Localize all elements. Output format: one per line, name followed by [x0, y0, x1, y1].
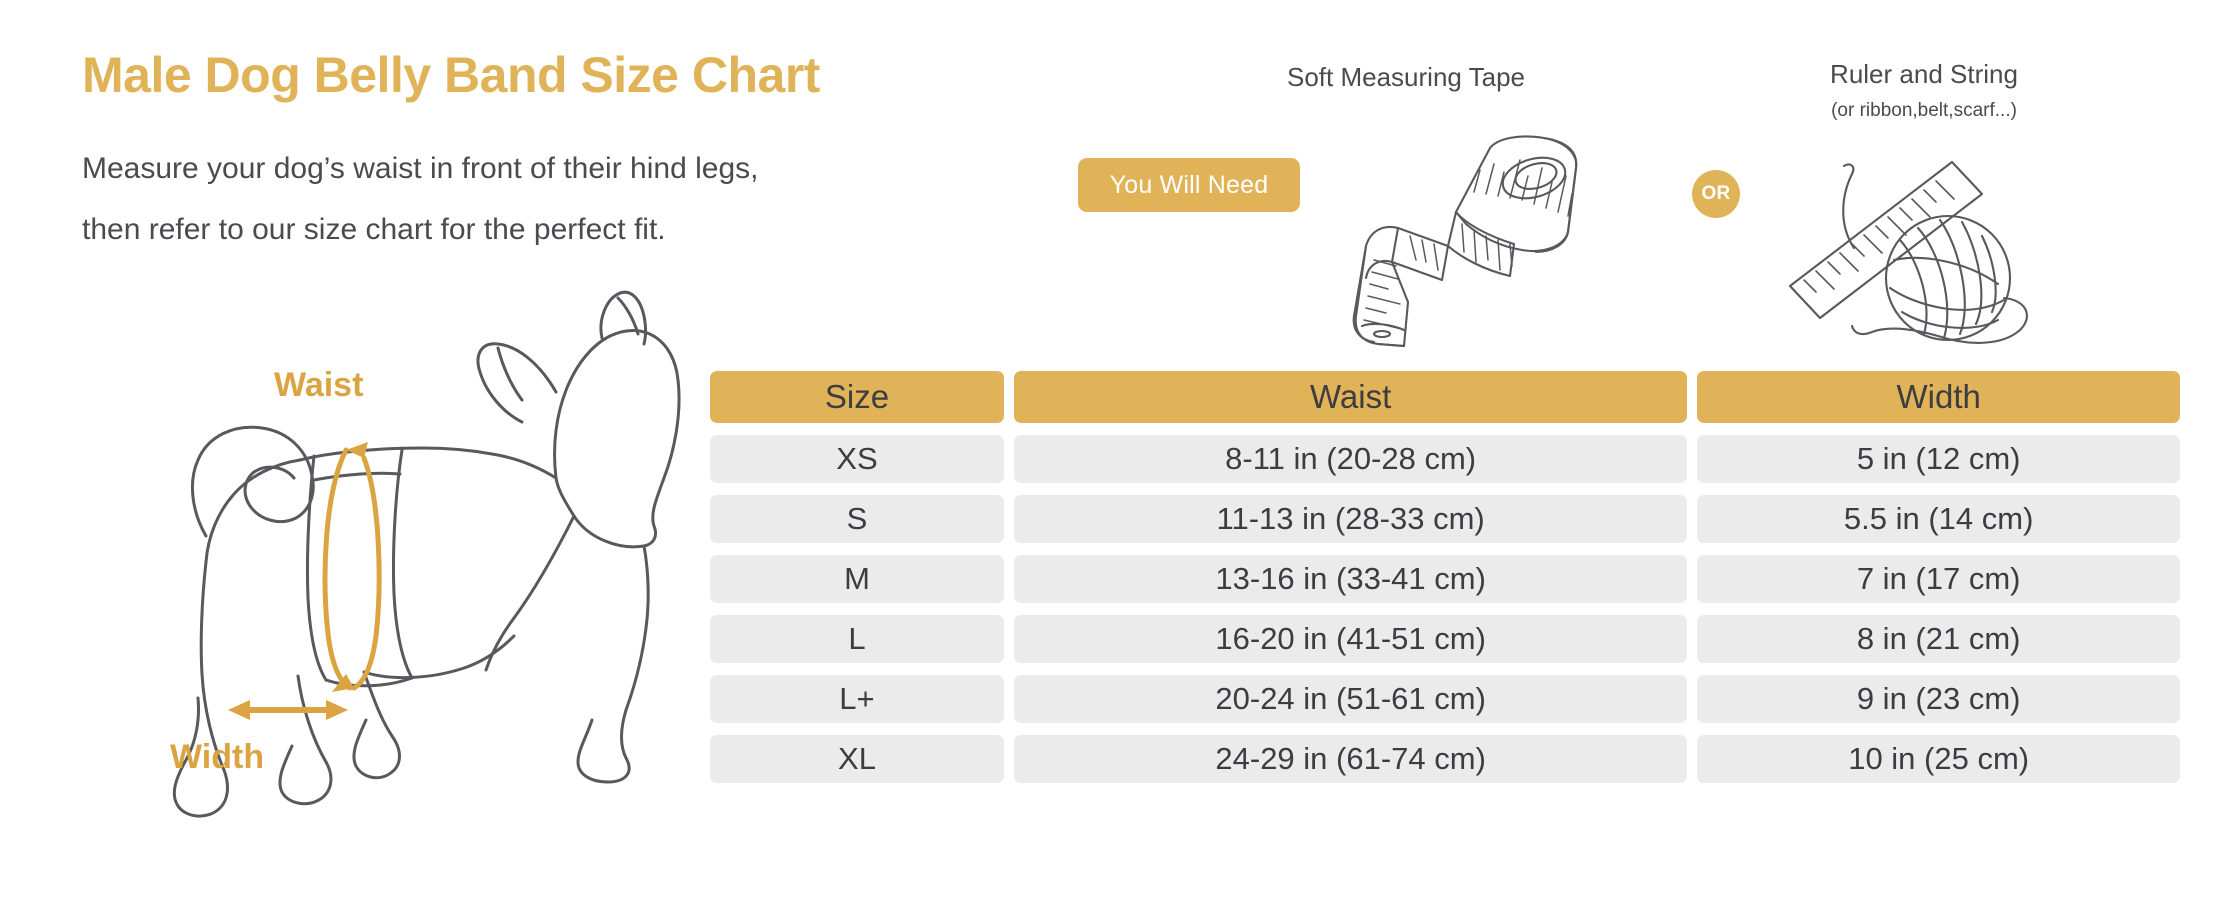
table-row: M 13-16 in (33-41 cm) 7 in (17 cm)	[710, 555, 2180, 603]
cell-size: XL	[710, 735, 1004, 783]
page-title: Male Dog Belly Band Size Chart	[82, 46, 820, 104]
size-chart-page: Male Dog Belly Band Size Chart Measure y…	[0, 0, 2214, 900]
table-row: XL 24-29 in (61-74 cm) 10 in (25 cm)	[710, 735, 2180, 783]
table-row: L 16-20 in (41-51 cm) 8 in (21 cm)	[710, 615, 2180, 663]
cell-width: 5.5 in (14 cm)	[1697, 495, 2180, 543]
measuring-tape-icon	[1338, 120, 1638, 365]
column-header-waist: Waist	[1014, 371, 1687, 423]
cell-width: 9 in (23 cm)	[1697, 675, 2180, 723]
or-badge: OR	[1692, 170, 1740, 218]
tape-caption: Soft Measuring Tape	[1196, 62, 1616, 93]
cell-width: 5 in (12 cm)	[1697, 435, 2180, 483]
you-will-need-badge: You Will Need	[1078, 158, 1300, 212]
table-row: L+ 20-24 in (51-61 cm) 9 in (23 cm)	[710, 675, 2180, 723]
column-header-width: Width	[1697, 371, 2180, 423]
cell-waist: 16-20 in (41-51 cm)	[1014, 615, 1687, 663]
cell-size: XS	[710, 435, 1004, 483]
table-row: S 11-13 in (28-33 cm) 5.5 in (14 cm)	[710, 495, 2180, 543]
size-chart-table: Size Waist Width XS 8-11 in (20-28 cm) 5…	[710, 371, 2180, 795]
intro-line-2: then refer to our size chart for the per…	[82, 199, 758, 260]
ruler-and-yarn-icon	[1776, 120, 2076, 365]
cell-width: 7 in (17 cm)	[1697, 555, 2180, 603]
cell-size: M	[710, 555, 1004, 603]
cell-size: S	[710, 495, 1004, 543]
cell-size: L+	[710, 675, 1004, 723]
cell-width: 8 in (21 cm)	[1697, 615, 2180, 663]
cell-waist: 24-29 in (61-74 cm)	[1014, 735, 1687, 783]
ruler-caption: Ruler and String	[1714, 59, 2134, 90]
waist-label: Waist	[274, 366, 363, 404]
cell-width: 10 in (25 cm)	[1697, 735, 2180, 783]
table-header-row: Size Waist Width	[710, 371, 2180, 423]
width-label: Width	[170, 738, 264, 776]
cell-waist: 11-13 in (28-33 cm)	[1014, 495, 1687, 543]
cell-size: L	[710, 615, 1004, 663]
cell-waist: 13-16 in (33-41 cm)	[1014, 555, 1687, 603]
cell-waist: 8-11 in (20-28 cm)	[1014, 435, 1687, 483]
intro-text: Measure your dog’s waist in front of the…	[82, 138, 758, 260]
ruler-subcaption: (or ribbon,belt,scarf...)	[1714, 100, 2134, 122]
column-header-size: Size	[710, 371, 1004, 423]
intro-line-1: Measure your dog’s waist in front of the…	[82, 138, 758, 199]
cell-waist: 20-24 in (51-61 cm)	[1014, 675, 1687, 723]
dog-measurement-diagram: Waist Width	[78, 268, 698, 838]
table-row: XS 8-11 in (20-28 cm) 5 in (12 cm)	[710, 435, 2180, 483]
